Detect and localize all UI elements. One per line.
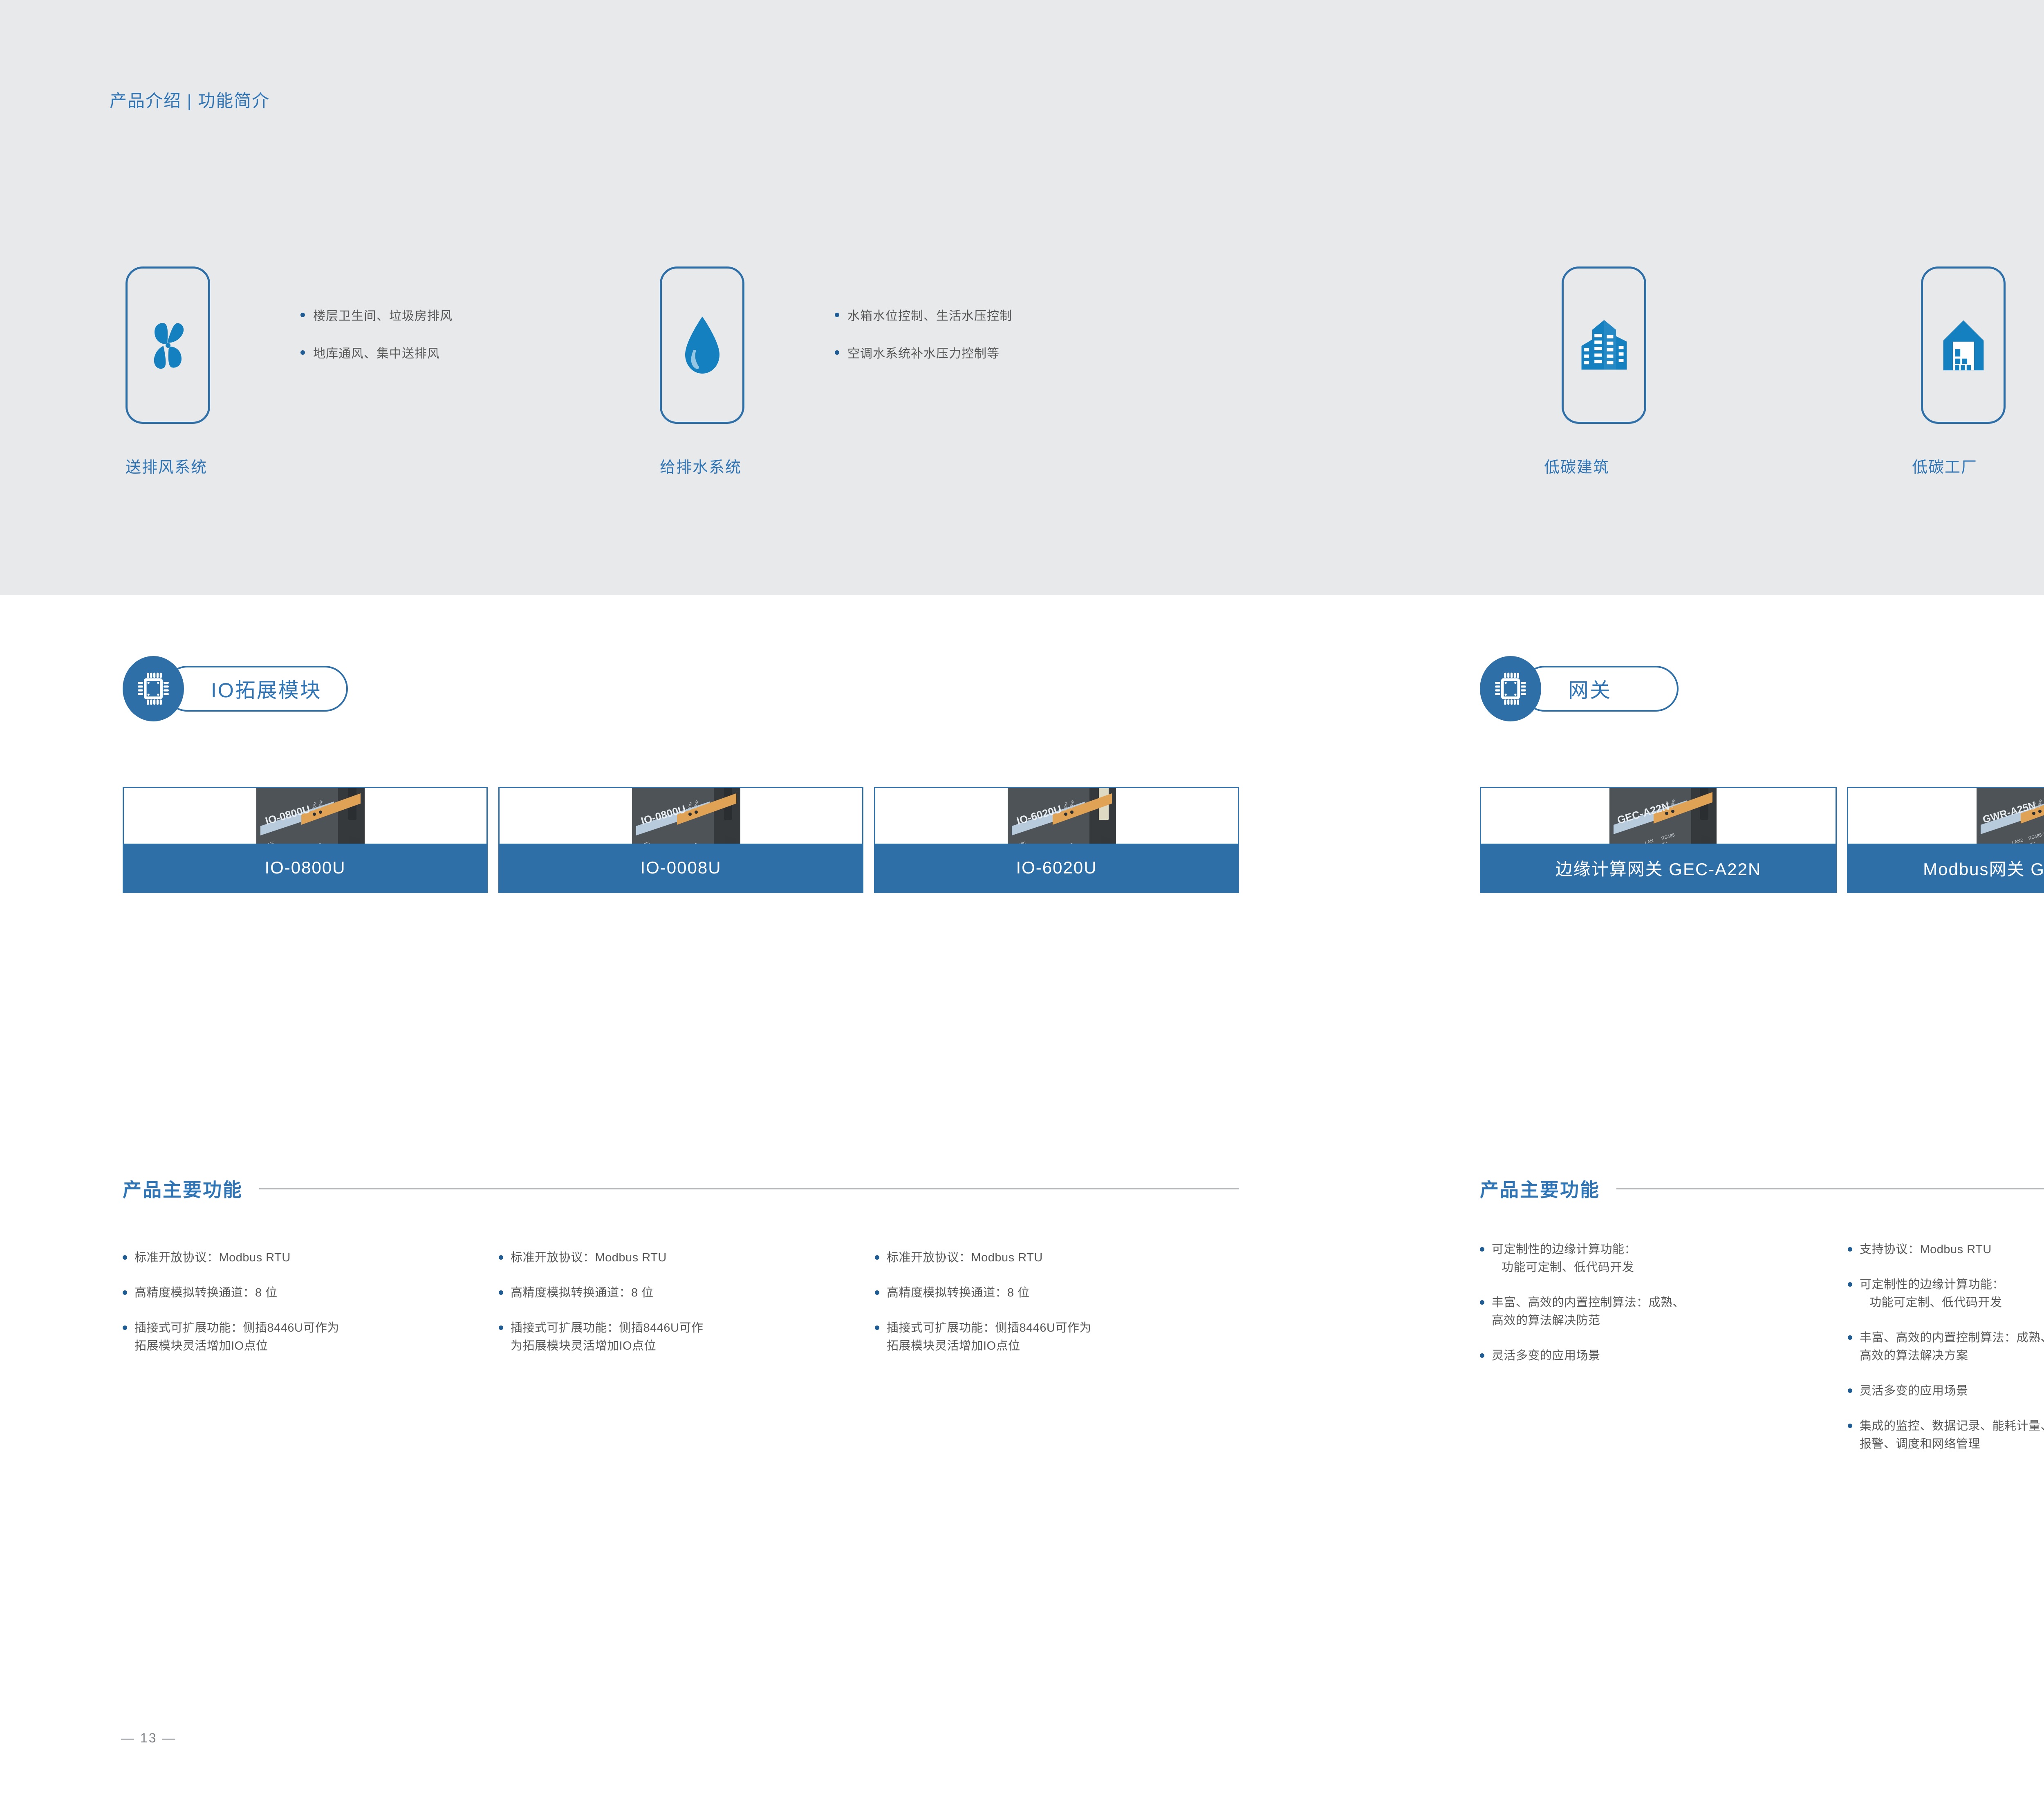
bullet-dot xyxy=(1848,1424,1852,1428)
list-item: 支持协议：Modbus RTU xyxy=(1848,1240,2044,1258)
bullet-text: 空调水系统补水压力控制等 xyxy=(847,343,1000,361)
factory-icon xyxy=(1937,315,1990,376)
chip-icon xyxy=(1493,670,1528,708)
list-item: 插接式可扩展功能：侧插8446U可作为拓展模块灵活增加IO点位 xyxy=(499,1319,858,1355)
bullet-text: 水箱水位控制、生活水压控制 xyxy=(847,306,1012,324)
bullet-dot xyxy=(123,1326,127,1330)
device-image-io0800u: IO-0800U KEYZELLE + - NA 24VAC/DC DI1 CO… xyxy=(217,788,393,844)
fan-icon xyxy=(137,313,199,378)
feature-text: 可定制性的边缘计算功能：功能可定制、低代码开发 xyxy=(1492,1240,1636,1276)
heading-rule xyxy=(1616,1188,2044,1189)
feature-column: 可定制性的边缘计算功能：功能可定制、低代码开发 丰富、高效的内置控制算法：成熟、… xyxy=(1480,1240,1831,1382)
feature-text: 灵活多变的应用场景 xyxy=(1860,1382,1968,1400)
scenario-caption-building: 低碳建筑 xyxy=(1544,455,1609,477)
feature-text: 插接式可扩展功能：侧插8446U可作为拓展模块灵活增加IO点位 xyxy=(134,1319,339,1355)
product-caption: Modbus网关 GWR-A25N xyxy=(1848,844,2044,892)
section-badge-io: IO拓展模块 xyxy=(123,656,348,721)
bullet-dot xyxy=(123,1255,127,1260)
section-badge-label-io: IO拓展模块 xyxy=(164,666,348,712)
feature-column: 标准开放协议：Modbus RTU 高精度模拟转换通道：8 位 插接式可扩展功能… xyxy=(875,1249,1235,1372)
list-item: 高精度模拟转换通道：8 位 xyxy=(875,1284,1235,1302)
list-item: 空调水系统补水压力控制等 xyxy=(835,343,1012,361)
bullet-dot xyxy=(300,313,305,317)
fan-icon-tile xyxy=(126,266,210,424)
section-badge-label-gateway: 网关 xyxy=(1522,666,1679,712)
chip-icon xyxy=(136,670,170,708)
bullet-dot xyxy=(835,313,839,317)
bullet-dot xyxy=(300,350,305,355)
product-card[interactable]: GWR-A25N KEYZELLE + - NA 24VAC/DC + - RS… xyxy=(1847,787,2044,893)
bullet-dot xyxy=(499,1290,503,1295)
list-item: 丰富、高效的内置控制算法：成熟、高效的算法解决方案 xyxy=(1848,1329,2044,1365)
product-card[interactable]: IO-0800U KEYZELLE + - NA 24VAC/DC DI1 CO… xyxy=(123,787,488,893)
application-caption-water: 给排水系统 xyxy=(660,455,742,477)
feature-column: 标准开放协议：Modbus RTU 高精度模拟转换通道：8 位 插接式可扩展功能… xyxy=(499,1249,858,1372)
feature-text: 丰富、高效的内置控制算法：成熟、高效的算法解决防范 xyxy=(1492,1294,1685,1330)
feature-text: 灵活多变的应用场景 xyxy=(1492,1347,1600,1365)
list-item: 插接式可扩展功能：侧插8446U可作为拓展模块灵活增加IO点位 xyxy=(123,1319,482,1355)
section-badge-gateway: 网关 xyxy=(1480,656,1679,721)
product-caption: IO-6020U xyxy=(875,844,1238,892)
scenario-caption-factory: 低碳工厂 xyxy=(1912,455,1977,477)
factory-icon-tile xyxy=(1921,266,2006,424)
list-item: 楼层卫生间、垃圾房排风 xyxy=(300,306,453,324)
product-caption: IO-0800U xyxy=(124,844,486,892)
page-header-left: 产品介绍 | 功能简介 xyxy=(110,87,270,112)
heading-rule xyxy=(259,1188,1239,1189)
bullet-dot xyxy=(835,350,839,355)
bullet-dot xyxy=(1480,1353,1484,1358)
list-item: 灵活多变的应用场景 xyxy=(1480,1347,1831,1365)
water-bullets: 水箱水位控制、生活水压控制 空调水系统补水压力控制等 xyxy=(835,306,1012,381)
device-image-io0008u: IO-0800U KEYZELLE + - NA 24VAC/DC DI1 CO… xyxy=(593,788,769,844)
device-image-gec-a22n: GEC-A22N KEYZELLE + - NA 24VAC/DC NA + -… xyxy=(1573,788,1744,844)
product-photo: IO-0800U KEYZELLE + - NA 24VAC/DC DI1 CO… xyxy=(500,788,862,844)
bullet-dot xyxy=(1480,1300,1484,1305)
device-image-io6020u: IO-6020U KEYZELLE + - NA 24VAC/DC AO1 CO… xyxy=(969,788,1145,844)
top-application-band: 产品介绍 | 功能简介 产品介绍 | 功能简介 送排风系统 楼层卫生间、垃圾房排… xyxy=(0,0,2044,595)
list-item: 高精度模拟转换通道：8 位 xyxy=(123,1284,482,1302)
list-item: 可定制性的边缘计算功能：功能可定制、低代码开发 xyxy=(1848,1276,2044,1312)
product-photo: IO-0800U KEYZELLE + - NA 24VAC/DC DI1 CO… xyxy=(124,788,486,844)
bullet-dot xyxy=(123,1290,127,1295)
product-photo: GWR-A25N KEYZELLE + - NA 24VAC/DC + - RS… xyxy=(1848,788,2044,844)
features-heading-left: 产品主要功能 xyxy=(123,1175,1239,1202)
bullet-dot xyxy=(1848,1282,1852,1287)
features-title: 产品主要功能 xyxy=(123,1175,243,1202)
list-item: 集成的监控、数据记录、能耗计量、报警、调度和网络管理 xyxy=(1848,1417,2044,1453)
feature-text: 可定制性的边缘计算功能：功能可定制、低代码开发 xyxy=(1860,1276,2004,1312)
fan-bullets: 楼层卫生间、垃圾房排风 地库通风、集中送排风 xyxy=(300,306,453,381)
feature-text: 标准开放协议：Modbus RTU xyxy=(134,1249,291,1267)
office-building-icon xyxy=(1577,315,1631,376)
list-item: 标准开放协议：Modbus RTU xyxy=(875,1249,1235,1267)
list-item: 地库通风、集中送排风 xyxy=(300,343,453,361)
product-photo: GEC-A22N KEYZELLE + - NA 24VAC/DC NA + -… xyxy=(1481,788,1836,844)
list-item: 丰富、高效的内置控制算法：成熟、高效的算法解决防范 xyxy=(1480,1294,1831,1330)
feature-text: 高精度模拟转换通道：8 位 xyxy=(887,1284,1030,1302)
list-item: 高精度模拟转换通道：8 位 xyxy=(499,1284,858,1302)
list-item: 水箱水位控制、生活水压控制 xyxy=(835,306,1012,324)
list-item: 标准开放协议：Modbus RTU xyxy=(499,1249,858,1267)
device-image-gwr-a25n: GWR-A25N KEYZELLE + - NA 24VAC/DC + - RS… xyxy=(1940,788,2044,844)
building-icon-tile xyxy=(1562,266,1646,424)
feature-text: 高精度模拟转换通道：8 位 xyxy=(511,1284,654,1302)
application-caption-fan: 送排风系统 xyxy=(126,455,207,477)
feature-column: 支持协议：Modbus RTU 可定制性的边缘计算功能：功能可定制、低代码开发 … xyxy=(1848,1240,2044,1470)
bullet-dot xyxy=(1848,1335,1852,1340)
feature-text: 插接式可扩展功能：侧插8446U可作为拓展模块灵活增加IO点位 xyxy=(511,1319,703,1355)
list-item: 标准开放协议：Modbus RTU xyxy=(123,1249,482,1267)
product-caption: IO-0008U xyxy=(500,844,862,892)
bullet-dot xyxy=(499,1326,503,1330)
bullet-dot xyxy=(875,1326,879,1330)
product-card[interactable]: IO-0800U KEYZELLE + - NA 24VAC/DC DI1 CO… xyxy=(498,787,863,893)
feature-text: 集成的监控、数据记录、能耗计量、报警、调度和网络管理 xyxy=(1860,1417,2044,1453)
page-number-left: — 13 — xyxy=(121,1731,176,1746)
bullet-text: 地库通风、集中送排风 xyxy=(313,343,440,361)
features-title: 产品主要功能 xyxy=(1480,1175,1600,1202)
bullet-text: 楼层卫生间、垃圾房排风 xyxy=(313,306,453,324)
bullet-dot xyxy=(875,1255,879,1260)
product-card[interactable]: GEC-A22N KEYZELLE + - NA 24VAC/DC NA + -… xyxy=(1480,787,1837,893)
feature-text: 支持协议：Modbus RTU xyxy=(1860,1240,1992,1258)
chip-badge-circle xyxy=(1480,656,1541,721)
list-item: 插接式可扩展功能：侧插8446U可作为拓展模块灵活增加IO点位 xyxy=(875,1319,1235,1355)
feature-text: 插接式可扩展功能：侧插8446U可作为拓展模块灵活增加IO点位 xyxy=(887,1319,1091,1355)
feature-text: 丰富、高效的内置控制算法：成熟、高效的算法解决方案 xyxy=(1860,1329,2044,1365)
feature-text: 标准开放协议：Modbus RTU xyxy=(511,1249,667,1267)
product-caption: 边缘计算网关 GEC-A22N xyxy=(1481,844,1836,892)
bullet-dot xyxy=(499,1255,503,1260)
product-card[interactable]: IO-6020U KEYZELLE + - NA 24VAC/DC AO1 CO… xyxy=(874,787,1239,893)
product-photo: IO-6020U KEYZELLE + - NA 24VAC/DC AO1 CO… xyxy=(875,788,1238,844)
bullet-dot xyxy=(875,1290,879,1295)
chip-badge-circle xyxy=(123,656,184,721)
features-heading-right: 产品主要功能 xyxy=(1480,1175,2044,1202)
bullet-dot xyxy=(1480,1247,1484,1252)
feature-text: 标准开放协议：Modbus RTU xyxy=(887,1249,1043,1267)
feature-text: 高精度模拟转换通道：8 位 xyxy=(134,1284,278,1302)
list-item: 灵活多变的应用场景 xyxy=(1848,1382,2044,1400)
feature-column: 标准开放协议：Modbus RTU 高精度模拟转换通道：8 位 插接式可扩展功能… xyxy=(123,1249,482,1372)
water-drop-icon xyxy=(672,311,733,379)
bullet-dot xyxy=(1848,1247,1852,1252)
list-item: 可定制性的边缘计算功能：功能可定制、低代码开发 xyxy=(1480,1240,1831,1276)
bullet-dot xyxy=(1848,1388,1852,1393)
water-icon-tile xyxy=(660,266,744,424)
